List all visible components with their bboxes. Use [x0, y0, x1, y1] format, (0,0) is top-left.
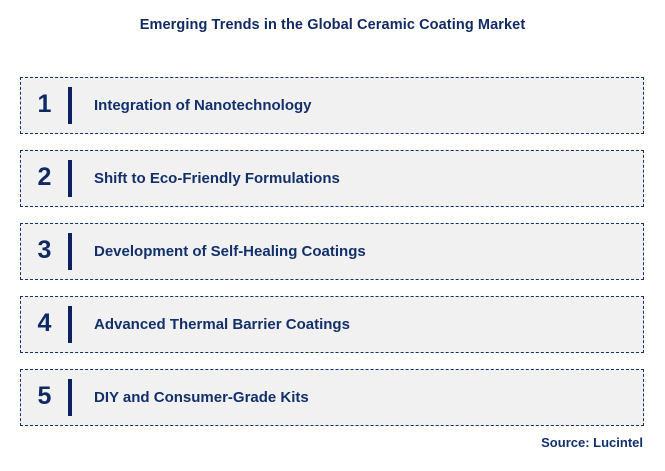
trend-label: Development of Self-Healing Coatings	[94, 243, 643, 260]
trend-label: Shift to Eco-Friendly Formulations	[94, 170, 643, 187]
trend-label: DIY and Consumer-Grade Kits	[94, 389, 643, 406]
source-note: Source: Lucintel	[541, 435, 643, 450]
list-item[interactable]: 5 DIY and Consumer-Grade Kits	[20, 369, 644, 426]
trends-infographic: Emerging Trends in the Global Ceramic Co…	[0, 0, 665, 471]
rank-number: 1	[21, 92, 68, 119]
divider-bar-icon	[68, 160, 72, 197]
list-item[interactable]: 4 Advanced Thermal Barrier Coatings	[20, 296, 644, 353]
list-item[interactable]: 3 Development of Self-Healing Coatings	[20, 223, 644, 280]
trend-list: 1 Integration of Nanotechnology 2 Shift …	[20, 77, 644, 426]
rank-number: 4	[21, 311, 68, 338]
divider-bar-icon	[68, 87, 72, 124]
divider-bar-icon	[68, 306, 72, 343]
list-item[interactable]: 2 Shift to Eco-Friendly Formulations	[20, 150, 644, 207]
rank-number: 3	[21, 238, 68, 265]
trend-label: Integration of Nanotechnology	[94, 97, 643, 114]
divider-bar-icon	[68, 233, 72, 270]
list-item[interactable]: 1 Integration of Nanotechnology	[20, 77, 644, 134]
rank-number: 2	[21, 165, 68, 192]
trend-label: Advanced Thermal Barrier Coatings	[94, 316, 643, 333]
rank-number: 5	[21, 384, 68, 411]
divider-bar-icon	[68, 379, 72, 416]
page-title: Emerging Trends in the Global Ceramic Co…	[0, 17, 665, 33]
